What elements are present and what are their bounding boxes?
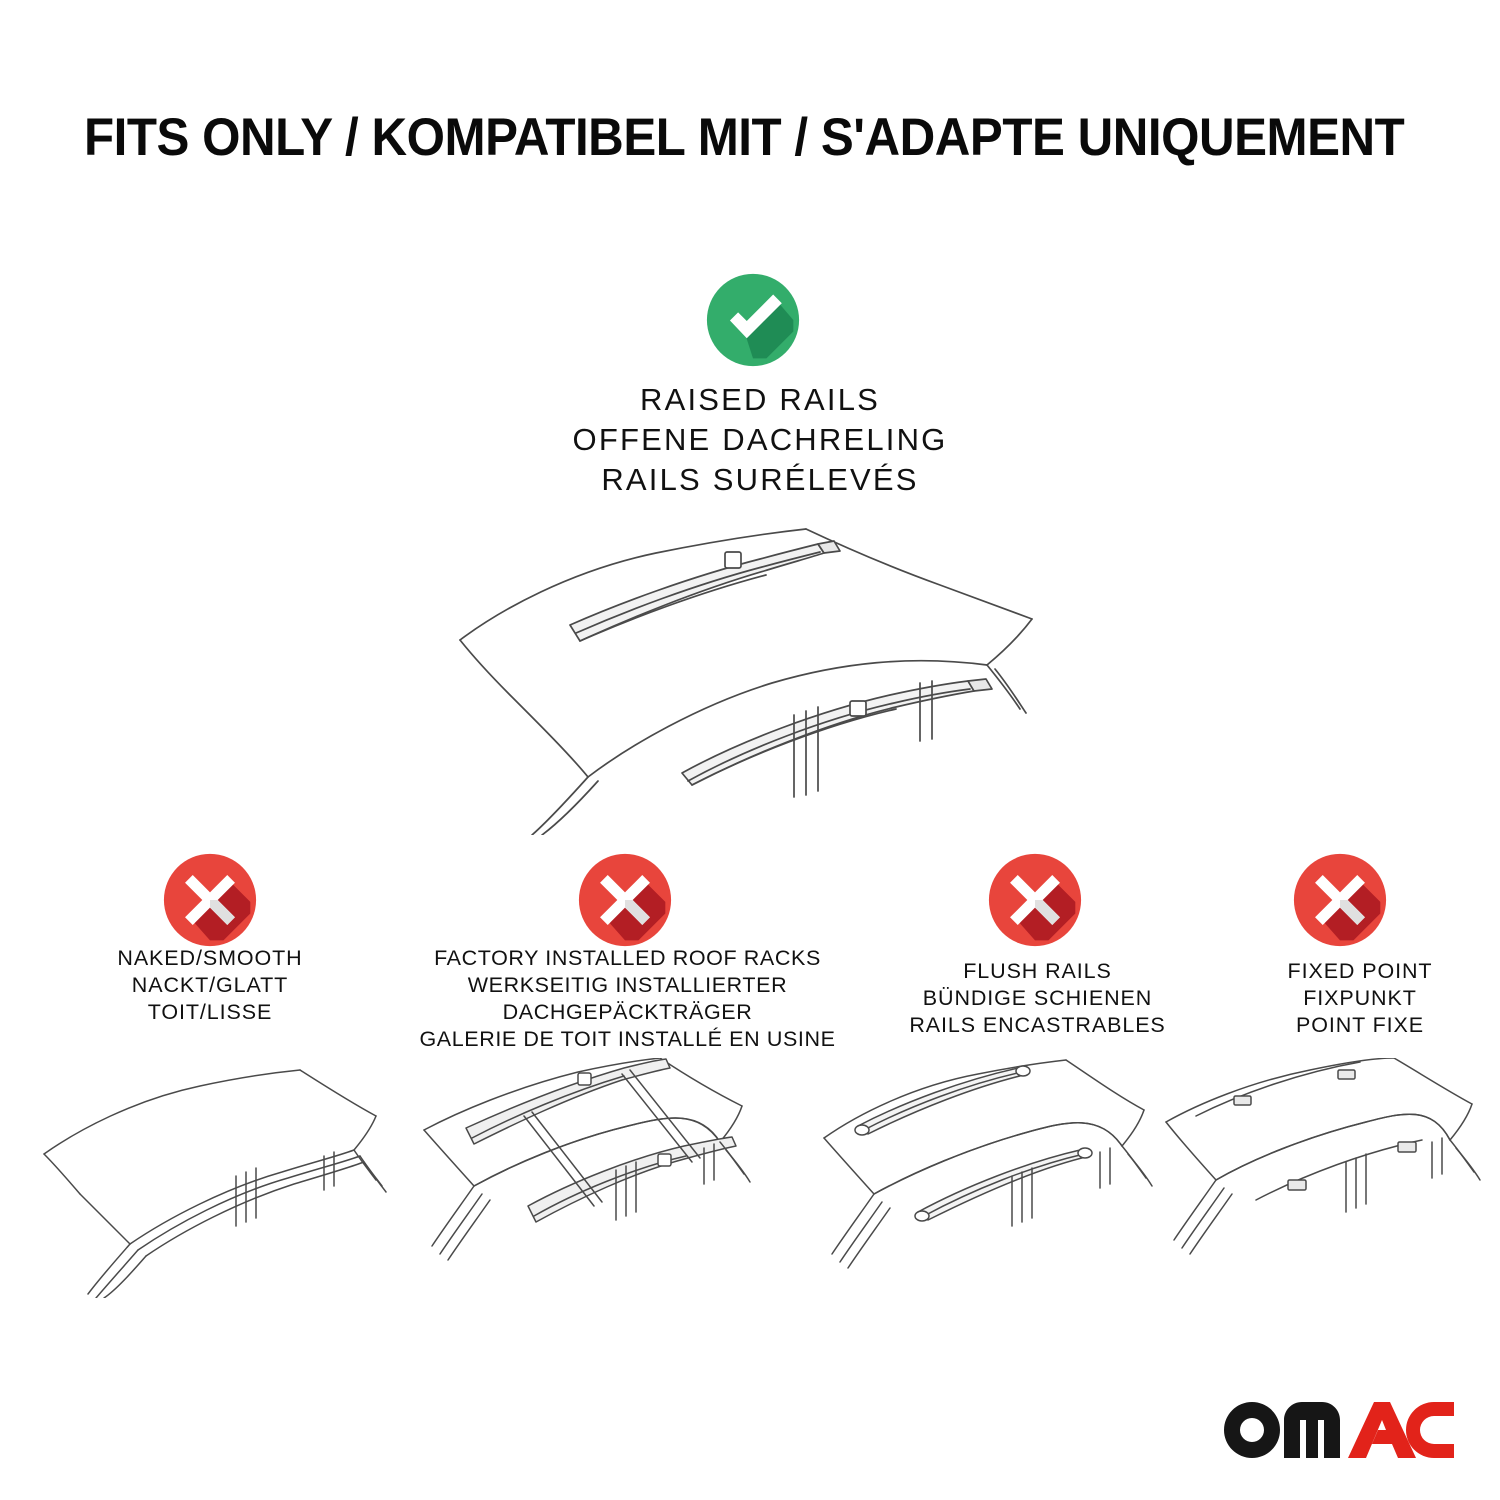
- caption-line: TOIT/LISSE: [45, 999, 375, 1026]
- car-roof-flush-rails-illustration: [818, 1058, 1208, 1298]
- compatible-caption: RAISED RAILS OFFENE DACHRELING RAILS SUR…: [450, 380, 1070, 500]
- incompatible-caption-1: NAKED/SMOOTH NACKT/GLATT TOIT/LISSE: [45, 945, 375, 1026]
- caption-line: FACTORY INSTALLED ROOF RACKS: [400, 945, 855, 972]
- caption-line: FIXED POINT: [1235, 958, 1485, 985]
- cross-badge: [577, 852, 673, 948]
- page-title: FITS ONLY / KOMPATIBEL MIT / S'ADAPTE UN…: [84, 108, 1330, 168]
- cross-badge: [1292, 852, 1388, 948]
- cross-badge: [162, 852, 258, 948]
- caption-line: FLUSH RAILS: [865, 958, 1210, 985]
- incompatible-caption-4: FIXED POINT FIXPUNKT POINT FIXE: [1235, 958, 1485, 1039]
- caption-line: RAILS ENCASTRABLES: [865, 1012, 1210, 1039]
- caption-line: GALERIE DE TOIT INSTALLÉ EN USINE: [400, 1026, 855, 1053]
- caption-line: NACKT/GLATT: [45, 972, 375, 999]
- caption-line: BÜNDIGE SCHIENEN: [865, 985, 1210, 1012]
- caption-line: NAKED/SMOOTH: [45, 945, 375, 972]
- car-roof-raised-rails-illustration: [420, 505, 1110, 835]
- check-badge: [705, 272, 801, 368]
- omac-logo: [1222, 1398, 1457, 1470]
- car-roof-fixed-point-illustration: [1160, 1058, 1500, 1298]
- cross-badge: [987, 852, 1083, 948]
- caption-line: FIXPUNKT: [1235, 985, 1485, 1012]
- caption-line: RAILS SURÉLEVÉS: [450, 460, 1070, 500]
- caption-line: DACHGEPÄCKTRÄGER: [400, 999, 855, 1026]
- caption-line: POINT FIXE: [1235, 1012, 1485, 1039]
- caption-line: WERKSEITIG INSTALLIERTER: [400, 972, 855, 999]
- incompatible-caption-2: FACTORY INSTALLED ROOF RACKS WERKSEITIG …: [400, 945, 855, 1053]
- incompatible-caption-3: FLUSH RAILS BÜNDIGE SCHIENEN RAILS ENCAS…: [865, 958, 1210, 1039]
- caption-line: OFFENE DACHRELING: [450, 420, 1070, 460]
- car-roof-factory-roof-racks-illustration: [418, 1058, 808, 1298]
- car-roof-naked-smooth-illustration: [38, 1058, 428, 1298]
- caption-line: RAISED RAILS: [450, 380, 1070, 420]
- fitment-infographic: FITS ONLY / KOMPATIBEL MIT / S'ADAPTE UN…: [0, 0, 1500, 1500]
